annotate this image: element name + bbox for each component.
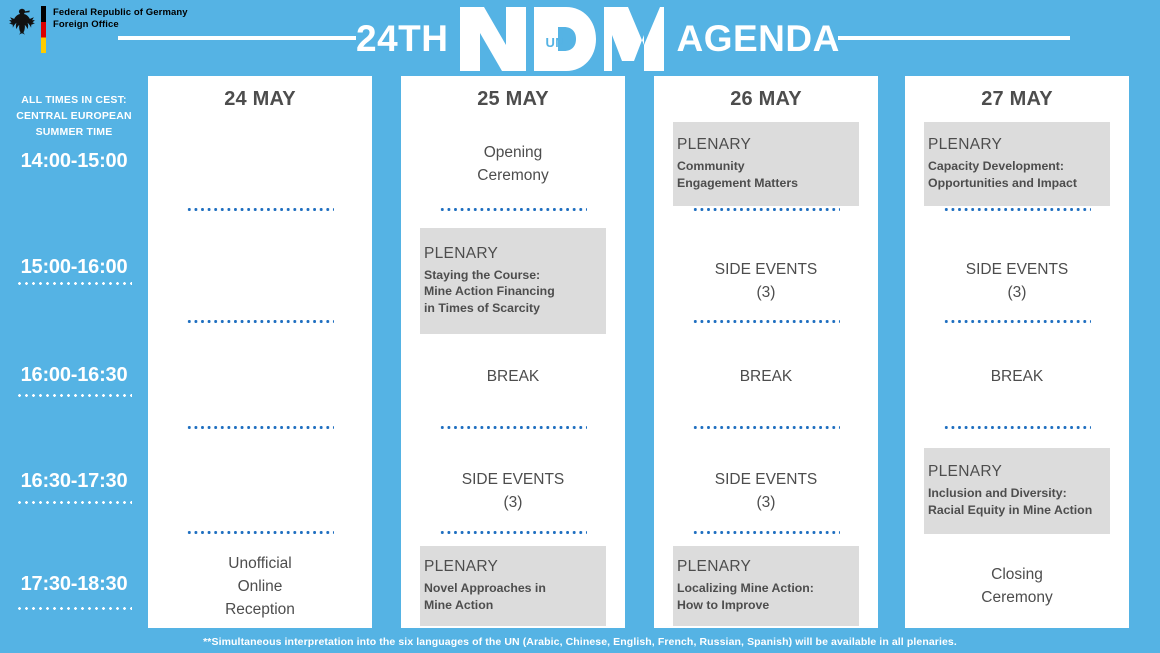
plenary-session[interactable]: PLENARYNovel Approaches inMine Action bbox=[401, 544, 625, 628]
session-item[interactable]: BREAK bbox=[905, 344, 1129, 408]
agenda-grid: 24 MAYUnofficialOnlineReception25 MAYOpe… bbox=[148, 76, 1152, 628]
plenary-description: Capacity Development:Opportunities and I… bbox=[928, 158, 1106, 191]
page-title: 24TH UN AGENDA bbox=[356, 4, 840, 74]
time-label-2: 15:00-16:00 bbox=[0, 256, 148, 279]
session-label: BREAK bbox=[401, 365, 625, 388]
session-item[interactable]: SIDE EVENTS(3) bbox=[654, 226, 878, 336]
day-column-26-may: 26 MAYPLENARYCommunityEngagement Matters… bbox=[654, 76, 878, 628]
plenary-description: Localizing Mine Action:How to Improve bbox=[677, 580, 855, 613]
footnote: **Simultaneous interpretation into the s… bbox=[0, 636, 1160, 648]
session-item[interactable]: BREAK bbox=[401, 344, 625, 408]
plenary-description: Staying the Course:Mine Action Financing… bbox=[424, 267, 602, 317]
session-label: ClosingCeremony bbox=[905, 563, 1129, 609]
plenary-box[interactable]: PLENARYLocalizing Mine Action:How to Imp… bbox=[673, 546, 859, 626]
plenary-description: Inclusion and Diversity:Racial Equity in… bbox=[928, 485, 1106, 518]
day-header: 25 MAY bbox=[401, 88, 625, 111]
time-label-3: 16:00-16:30 bbox=[0, 364, 148, 387]
german-foreign-office-logo: Federal Republic of Germany Foreign Offi… bbox=[8, 5, 188, 53]
row-separator-3 bbox=[692, 426, 840, 429]
plenary-box[interactable]: PLENARYCommunityEngagement Matters bbox=[673, 122, 859, 206]
session-label: SIDE EVENTS(3) bbox=[905, 258, 1129, 304]
plenary-description: CommunityEngagement Matters bbox=[677, 158, 855, 191]
time-label-5: 17:30-18:30 bbox=[0, 573, 148, 596]
plenary-session[interactable]: PLENARYInclusion and Diversity:Racial Eq… bbox=[905, 446, 1129, 536]
german-eagle-icon bbox=[8, 5, 36, 35]
plenary-box[interactable]: PLENARYInclusion and Diversity:Racial Eq… bbox=[924, 448, 1110, 534]
plenary-session[interactable]: PLENARYStaying the Course:Mine Action Fi… bbox=[401, 226, 625, 336]
session-label: OpeningCeremony bbox=[401, 141, 625, 187]
row-separator-4 bbox=[186, 531, 334, 534]
gutter-separator-1 bbox=[16, 282, 132, 285]
plenary-session[interactable]: PLENARYCommunityEngagement Matters bbox=[654, 120, 878, 208]
time-gutter: ALL TIMES IN CEST:CENTRAL EUROPEANSUMMER… bbox=[0, 76, 148, 628]
gov-logo-line1: Federal Republic of Germany bbox=[53, 7, 188, 19]
title-prefix: 24TH bbox=[356, 18, 448, 60]
row-separator-3 bbox=[186, 426, 334, 429]
session-item[interactable]: UnofficialOnlineReception bbox=[148, 544, 372, 628]
plenary-box[interactable]: PLENARYCapacity Development:Opportunitie… bbox=[924, 122, 1110, 206]
session-item[interactable]: BREAK bbox=[654, 344, 878, 408]
gov-logo-text: Federal Republic of Germany Foreign Offi… bbox=[53, 5, 188, 30]
row-separator-2 bbox=[186, 320, 334, 323]
plenary-title: PLENARY bbox=[677, 556, 855, 578]
session-label: UnofficialOnlineReception bbox=[148, 552, 372, 621]
session-item[interactable]: SIDE EVENTS(3) bbox=[401, 446, 625, 536]
plenary-session[interactable]: PLENARYLocalizing Mine Action:How to Imp… bbox=[654, 544, 878, 628]
row-separator-1 bbox=[439, 208, 587, 211]
gutter-separator-2 bbox=[16, 394, 132, 397]
row-separator-1 bbox=[186, 208, 334, 211]
row-separator-1 bbox=[692, 208, 840, 211]
plenary-title: PLENARY bbox=[677, 134, 855, 156]
plenary-session[interactable]: PLENARYCapacity Development:Opportunitie… bbox=[905, 120, 1129, 208]
plenary-title: PLENARY bbox=[424, 556, 602, 578]
plenary-title: PLENARY bbox=[928, 134, 1106, 156]
page-header: Federal Republic of Germany Foreign Offi… bbox=[0, 0, 1160, 76]
header-rule-right bbox=[838, 36, 1070, 40]
row-separator-1 bbox=[943, 208, 1091, 211]
day-column-27-may: 27 MAYPLENARYCapacity Development:Opport… bbox=[905, 76, 1129, 628]
timezone-note: ALL TIMES IN CEST:CENTRAL EUROPEANSUMMER… bbox=[0, 92, 148, 140]
session-label: SIDE EVENTS(3) bbox=[654, 468, 878, 514]
title-suffix: AGENDA bbox=[676, 18, 839, 60]
ndm-logo-un-text: UN bbox=[545, 35, 565, 50]
session-item[interactable]: OpeningCeremony bbox=[401, 120, 625, 208]
plenary-title: PLENARY bbox=[928, 461, 1106, 483]
time-label-1: 14:00-15:00 bbox=[0, 150, 148, 173]
session-label: SIDE EVENTS(3) bbox=[654, 258, 878, 304]
session-label: BREAK bbox=[905, 365, 1129, 388]
plenary-box[interactable]: PLENARYNovel Approaches inMine Action bbox=[420, 546, 606, 626]
day-column-24-may: 24 MAYUnofficialOnlineReception bbox=[148, 76, 372, 628]
agenda-page: Federal Republic of Germany Foreign Offi… bbox=[0, 0, 1160, 653]
gutter-separator-4 bbox=[16, 607, 132, 610]
day-header: 26 MAY bbox=[654, 88, 878, 111]
ndm-logo: UN bbox=[458, 5, 666, 73]
day-header: 24 MAY bbox=[148, 88, 372, 111]
day-header: 27 MAY bbox=[905, 88, 1129, 111]
header-rule-left bbox=[118, 36, 356, 40]
plenary-title: PLENARY bbox=[424, 243, 602, 265]
session-item[interactable]: ClosingCeremony bbox=[905, 544, 1129, 628]
day-column-25-may: 25 MAYOpeningCeremonyPLENARYStaying the … bbox=[401, 76, 625, 628]
gutter-separator-3 bbox=[16, 501, 132, 504]
time-label-4: 16:30-17:30 bbox=[0, 470, 148, 493]
german-flag-bar bbox=[41, 6, 46, 53]
row-separator-3 bbox=[943, 426, 1091, 429]
gov-logo-line2: Foreign Office bbox=[53, 19, 188, 31]
session-item[interactable]: SIDE EVENTS(3) bbox=[905, 226, 1129, 336]
session-item[interactable]: SIDE EVENTS(3) bbox=[654, 446, 878, 536]
session-label: SIDE EVENTS(3) bbox=[401, 468, 625, 514]
session-label: BREAK bbox=[654, 365, 878, 388]
row-separator-3 bbox=[439, 426, 587, 429]
plenary-description: Novel Approaches inMine Action bbox=[424, 580, 602, 613]
plenary-box[interactable]: PLENARYStaying the Course:Mine Action Fi… bbox=[420, 228, 606, 334]
